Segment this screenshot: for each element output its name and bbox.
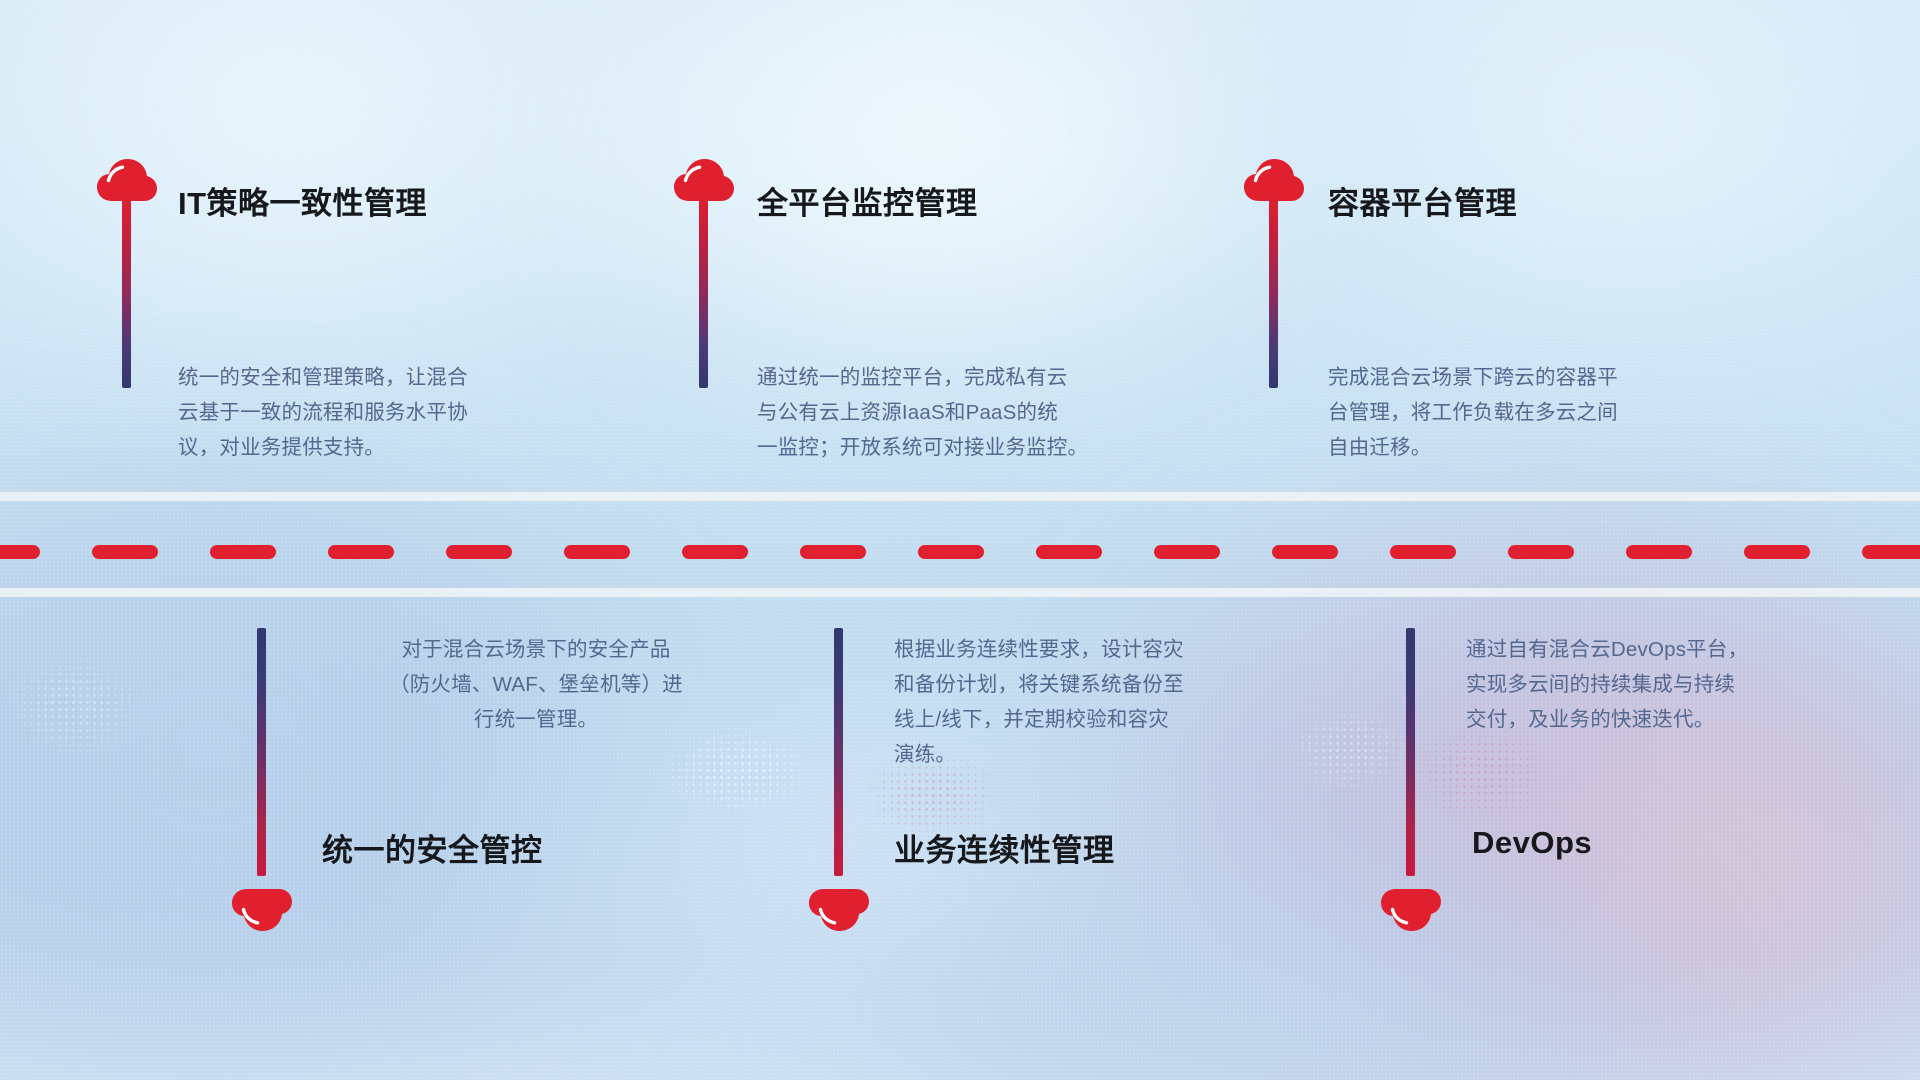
connector-stem <box>834 628 843 876</box>
panel-body: 对于混合云场景下的安全产品 （防火墙、WAF、堡垒机等）进 行统一管理。 <box>316 632 756 737</box>
road-dash <box>1862 545 1920 559</box>
panel-heading: DevOps <box>1472 825 1592 861</box>
panel-heading: 全平台监控管理 <box>757 178 978 223</box>
panel-body: 统一的安全和管理策略，让混合 云基于一致的流程和服务水平协 议，对业务提供支持。 <box>178 360 618 465</box>
road-dash <box>328 545 394 559</box>
cloud-icon <box>1380 888 1442 932</box>
cloud-icon <box>808 888 870 932</box>
cloud-icon <box>231 888 293 932</box>
road-dash <box>1744 545 1810 559</box>
road-dash <box>1154 545 1220 559</box>
road-dash <box>1272 545 1338 559</box>
road-dashed-center-line <box>0 545 1920 559</box>
panel-heading: IT策略一致性管理 <box>178 178 427 223</box>
road-dash <box>92 545 158 559</box>
panel-heading: 业务连续性管理 <box>894 825 1115 870</box>
connector-stem <box>1269 196 1278 388</box>
road-dash <box>918 545 984 559</box>
panel-heading: 统一的安全管控 <box>322 825 543 870</box>
panel-body: 完成混合云场景下跨云的容器平 台管理，将工作负载在多云之间 自由迁移。 <box>1328 360 1768 465</box>
road-dash <box>1508 545 1574 559</box>
panel-body: 根据业务连续性要求，设计容灾 和备份计划，将关键系统备份至 线上/线下，并定期校… <box>894 632 1334 772</box>
connector-stem <box>699 196 708 388</box>
road-dash <box>1390 545 1456 559</box>
road-lane-line-top <box>0 492 1920 501</box>
road-dash <box>0 545 40 559</box>
panel-body: 通过自有混合云DevOps平台， 实现多云间的持续集成与持续 交付，及业务的快速… <box>1466 632 1886 737</box>
road-dash <box>800 545 866 559</box>
panel-heading: 容器平台管理 <box>1328 178 1517 223</box>
road-dash <box>1036 545 1102 559</box>
panel-body: 通过统一的监控平台，完成私有云 与公有云上资源IaaS和PaaS的统 一监控；开… <box>757 360 1217 465</box>
connector-stem <box>257 628 266 876</box>
road-dash <box>564 545 630 559</box>
road-dash <box>446 545 512 559</box>
connector-stem <box>1406 628 1415 876</box>
road-dash <box>210 545 276 559</box>
infographic-canvas: IT策略一致性管理 统一的安全和管理策略，让混合 云基于一致的流程和服务水平协 … <box>0 0 1920 1080</box>
road-dash <box>1626 545 1692 559</box>
road-dash <box>682 545 748 559</box>
road-lane-line-bottom <box>0 588 1920 597</box>
connector-stem <box>122 196 131 388</box>
